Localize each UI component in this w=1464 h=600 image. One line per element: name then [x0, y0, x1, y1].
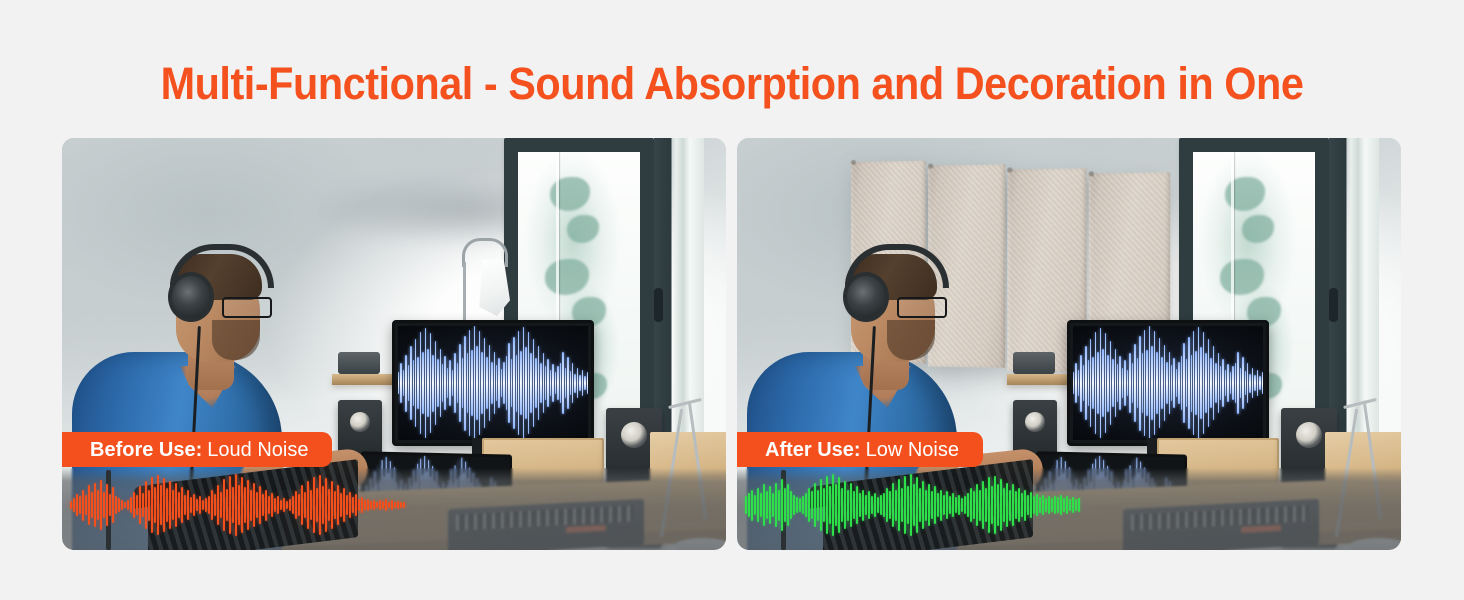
- person-beard: [212, 320, 260, 360]
- monitor-screen: [398, 326, 588, 440]
- noise-waveform-low: [745, 474, 1185, 536]
- comparison-panels: Before Use: Loud Noise: [62, 138, 1402, 550]
- monitor-audio-waveform: [398, 326, 588, 440]
- page-title: Multi-Functional - Sound Absorption and …: [59, 56, 1406, 112]
- bottom-overlay-after: [737, 468, 1401, 550]
- computer-monitor: [1067, 320, 1269, 446]
- monitor-screen: [1073, 326, 1263, 440]
- window-handle[interactable]: [654, 288, 663, 322]
- foliage-icon: [1242, 215, 1274, 243]
- badge-before-emphasis: Before Use:: [90, 440, 202, 460]
- person-beard: [887, 320, 935, 360]
- noise-waveform-loud: [70, 474, 510, 536]
- foliage-icon: [1220, 259, 1264, 295]
- badge-after-use: After Use: Low Noise: [737, 432, 983, 467]
- bottom-overlay-before: [62, 468, 726, 550]
- foliage-icon: [545, 259, 589, 295]
- badge-after-value: Low Noise: [866, 440, 959, 460]
- foliage-icon: [567, 215, 599, 243]
- monitor-audio-waveform: [1073, 326, 1263, 440]
- window-handle[interactable]: [1329, 288, 1338, 322]
- headphones-icon: [843, 272, 889, 322]
- headphones-icon: [168, 272, 214, 322]
- panel-after-use[interactable]: After Use: Low Noise: [737, 138, 1401, 550]
- computer-monitor: [392, 320, 594, 446]
- eyeglasses-icon: [897, 297, 947, 318]
- panel-before-use[interactable]: Before Use: Loud Noise: [62, 138, 726, 550]
- badge-before-value: Loud Noise: [207, 440, 308, 460]
- badge-after-emphasis: After Use:: [765, 440, 861, 460]
- badge-before-use: Before Use: Loud Noise: [62, 432, 332, 467]
- eyeglasses-icon: [222, 297, 272, 318]
